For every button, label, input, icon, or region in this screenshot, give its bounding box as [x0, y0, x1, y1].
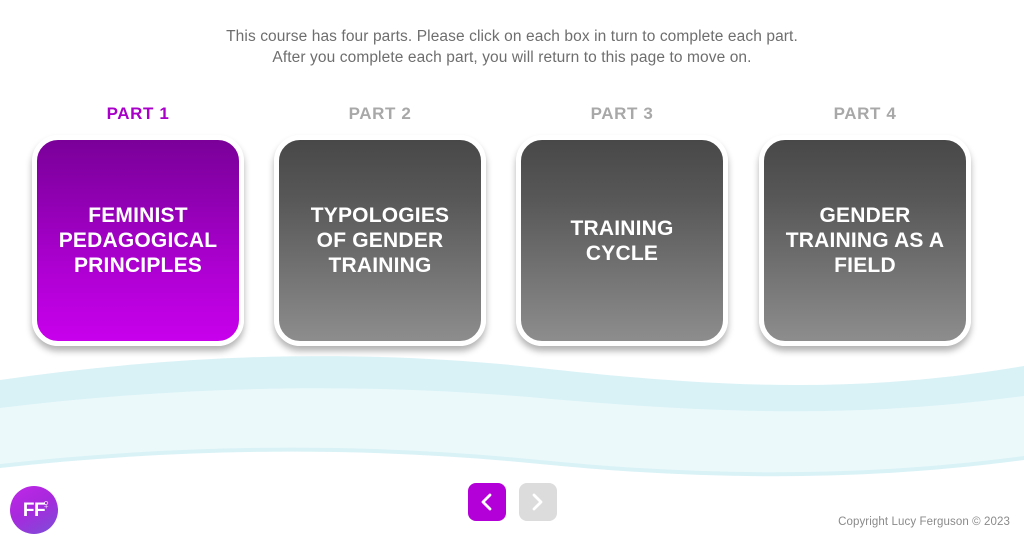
part-card-3[interactable]: TRAINING CYCLE [516, 135, 728, 346]
wave-decoration [0, 352, 1024, 487]
course-parts-grid: PART 1 FEMINIST PEDAGOGICAL PRINCIPLES P… [0, 104, 1024, 354]
part-card-1[interactable]: FEMINIST PEDAGOGICAL PRINCIPLES [32, 135, 244, 346]
part-label-4: PART 4 [759, 104, 971, 124]
course-parts-page: This course has four parts. Please click… [0, 0, 1024, 549]
intro-line-2: After you complete each part, you will r… [0, 47, 1024, 68]
chevron-right-icon [530, 492, 545, 512]
part-slot-2: PART 2 TYPOLOGIES OF GENDER TRAINING [274, 104, 486, 354]
part-label-3: PART 3 [516, 104, 728, 124]
copyright-text: Copyright Lucy Ferguson © 2023 [838, 516, 1010, 528]
part-slot-4: PART 4 GENDER TRAINING AS A FIELD [759, 104, 971, 354]
part-slot-3: PART 3 TRAINING CYCLE [516, 104, 728, 354]
part-card-1-title: FEMINIST PEDAGOGICAL PRINCIPLES [51, 203, 226, 278]
wave-layer-front [0, 388, 1024, 472]
part-label-1: PART 1 [32, 104, 244, 124]
part-label-2: PART 2 [274, 104, 486, 124]
part-card-2[interactable]: TYPOLOGIES OF GENDER TRAINING [274, 135, 486, 346]
part-card-3-title: TRAINING CYCLE [562, 216, 681, 266]
intro-line-1: This course has four parts. Please click… [0, 26, 1024, 47]
previous-button[interactable] [468, 483, 506, 521]
part-card-2-title: TYPOLOGIES OF GENDER TRAINING [303, 203, 458, 278]
chevron-left-icon [479, 492, 494, 512]
wave-layer-back [0, 356, 1024, 476]
part-card-4[interactable]: GENDER TRAINING AS A FIELD [759, 135, 971, 346]
part-slot-1: PART 1 FEMINIST PEDAGOGICAL PRINCIPLES [32, 104, 244, 354]
intro-instructions: This course has four parts. Please click… [0, 26, 1024, 68]
next-button[interactable] [519, 483, 557, 521]
part-card-4-title: GENDER TRAINING AS A FIELD [778, 203, 953, 278]
